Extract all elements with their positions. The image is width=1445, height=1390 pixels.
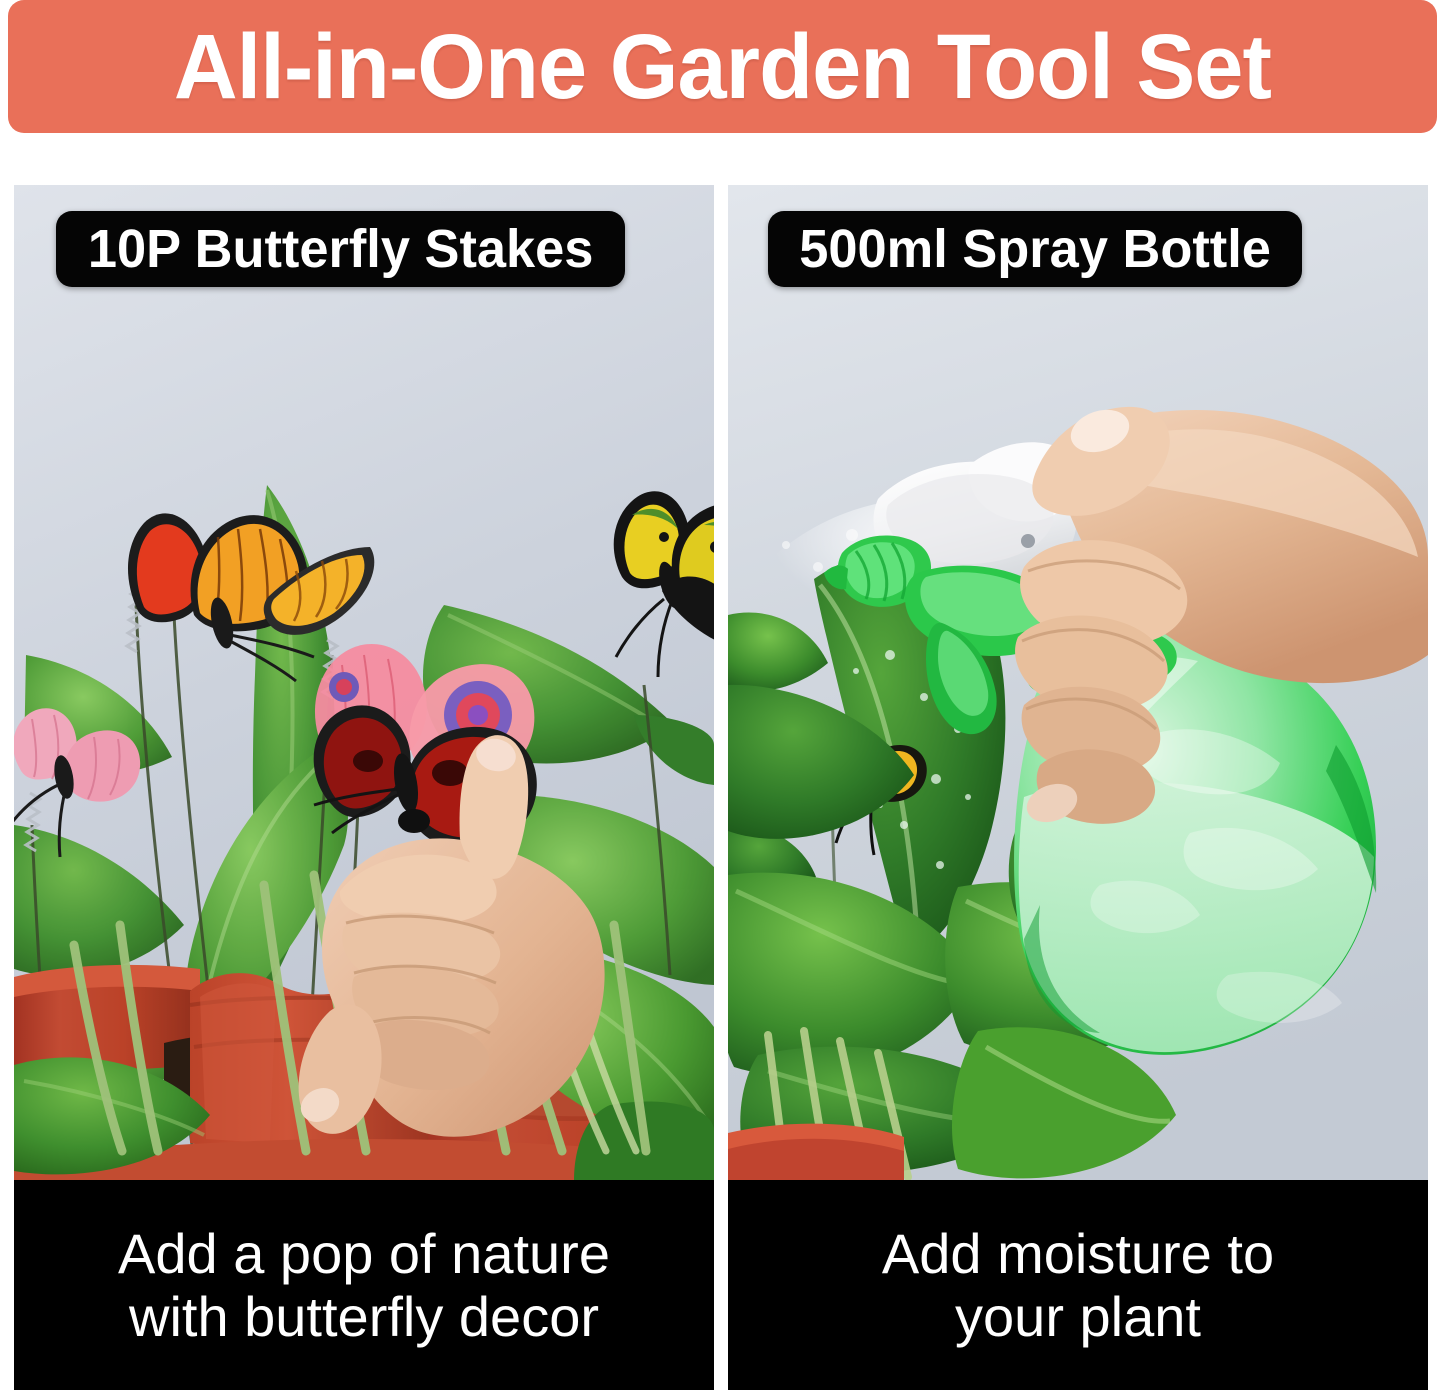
product-panel-butterfly-stakes: 10P Butterfly Stakes Add a pop of nature… <box>14 185 714 1390</box>
badge-label: 10P Butterfly Stakes <box>88 222 594 276</box>
photo-spray-bottle <box>728 185 1428 1180</box>
badge-label: 500ml Spray Bottle <box>799 222 1271 276</box>
caption-line-2: your plant <box>955 1285 1201 1348</box>
caption-line-2: with butterfly decor <box>129 1285 599 1348</box>
caption-line-1: Add moisture to <box>882 1222 1274 1285</box>
photo-butterfly-stakes <box>14 185 714 1180</box>
badge-spray-bottle: 500ml Spray Bottle <box>768 211 1302 287</box>
header-banner: All-in-One Garden Tool Set <box>8 0 1437 133</box>
page-title: All-in-One Garden Tool Set <box>174 21 1271 113</box>
caption-spray-bottle: Add moisture to your plant <box>728 1180 1428 1390</box>
caption-line-1: Add a pop of nature <box>118 1222 610 1285</box>
badge-butterfly-stakes: 10P Butterfly Stakes <box>56 211 625 287</box>
product-panel-spray-bottle: 500ml Spray Bottle Add moisture to your … <box>728 185 1428 1390</box>
caption-butterfly-stakes: Add a pop of nature with butterfly decor <box>14 1180 714 1390</box>
